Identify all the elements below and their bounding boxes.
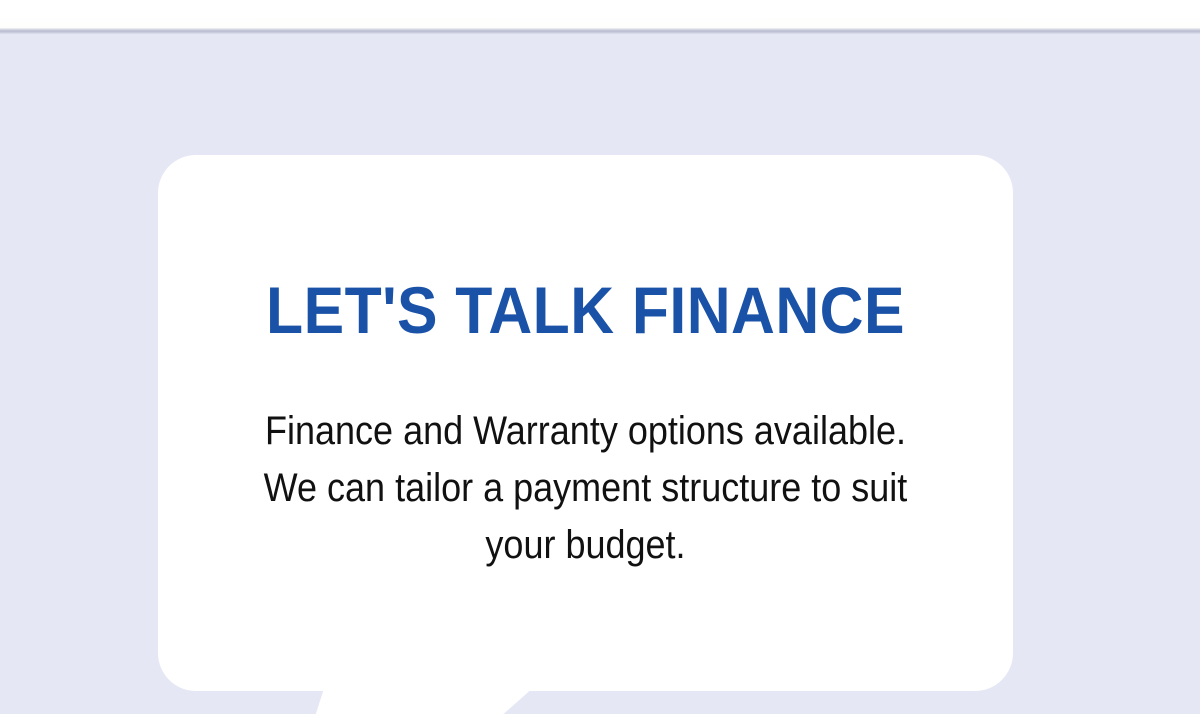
screenshot-canvas: LET'S TALK FINANCE Finance and Warranty …: [0, 0, 1200, 714]
speech-bubble-content: LET'S TALK FINANCE Finance and Warranty …: [158, 155, 1013, 691]
body-copy-line: We can tailor a payment structure to sui…: [237, 460, 935, 517]
page-background: LET'S TALK FINANCE Finance and Warranty …: [0, 34, 1200, 714]
body-copy-line: your budget.: [237, 517, 935, 574]
headline: LET'S TALK FINANCE: [192, 275, 979, 345]
body-copy: Finance and Warranty options available. …: [237, 403, 935, 574]
body-copy-line: Finance and Warranty options available.: [237, 403, 935, 460]
top-white-strip: [0, 0, 1200, 28]
